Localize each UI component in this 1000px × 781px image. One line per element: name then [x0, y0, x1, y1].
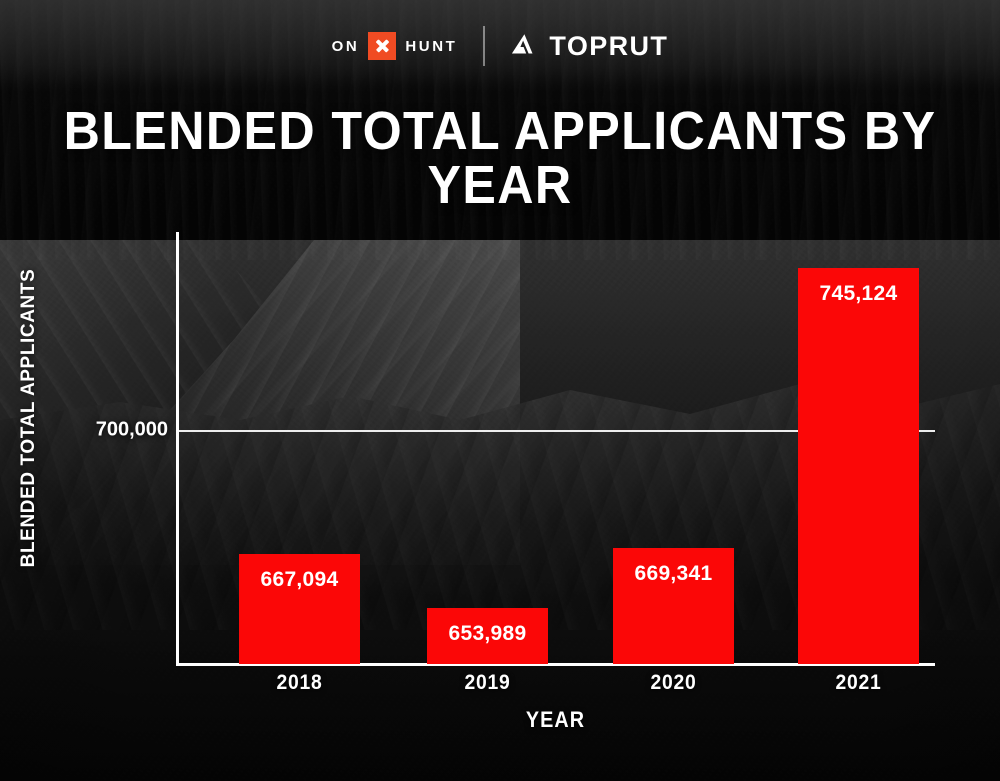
bar-2018[interactable]: 667,094 [239, 554, 360, 664]
bar-value-label-2020: 669,341 [613, 562, 734, 586]
bar-2021[interactable]: 745,124 [798, 268, 919, 664]
bar-value-label-2019: 653,989 [427, 622, 548, 646]
infographic-canvas: ON HUNT TOPRUT BLENDED TOTAL APPLICANTS … [0, 0, 1000, 781]
chart-plot-area: BLENDED TOTAL APPLICANTS 700,000 667,094… [0, 0, 1000, 781]
x-tick-label-2019: 2019 [432, 671, 543, 695]
bar-value-label-2018: 667,094 [239, 568, 360, 592]
bar-2020[interactable]: 669,341 [613, 548, 734, 664]
x-tick-label-2018: 2018 [244, 671, 355, 695]
x-tick-label-2021: 2021 [803, 671, 914, 695]
bar-2019[interactable]: 653,989 [427, 608, 548, 664]
bar-value-label-2021: 745,124 [798, 282, 919, 306]
x-axis-title: YEAR [214, 707, 897, 733]
bars-layer: 667,094 653,989 669,341 745,124 [0, 0, 1000, 781]
x-tick-label-2020: 2020 [618, 671, 729, 695]
